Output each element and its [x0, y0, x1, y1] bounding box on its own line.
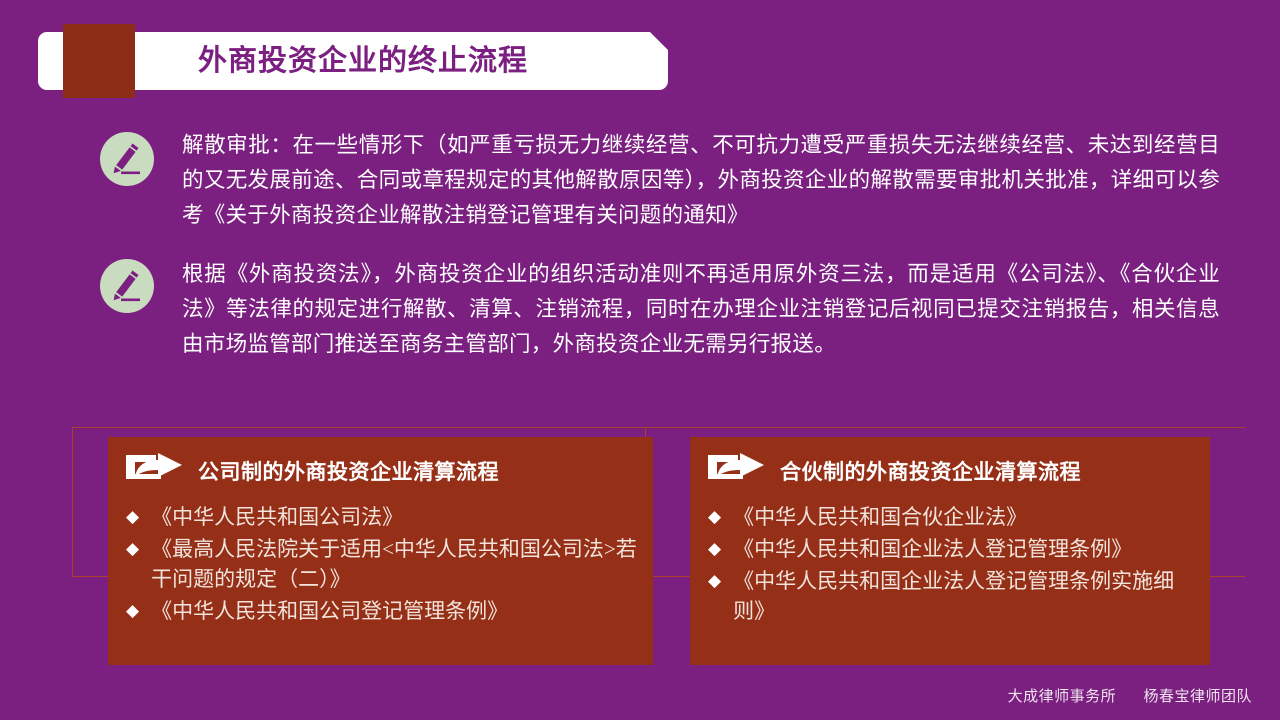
bullet-item: 解散审批：在一些情形下（如严重亏损无力继续经营、不可抗力遭受严重损失无法继续经营… — [100, 128, 1220, 233]
box-title: 合伙制的外商投资企业清算流程 — [780, 456, 1081, 486]
box-header: 公司制的外商投资企业清算流程 — [108, 437, 653, 488]
list-item-label: 《中华人民共和国企业法人登记管理条例》 — [733, 534, 1196, 564]
pencil-icon — [100, 132, 154, 186]
bullet-text: 根据《外商投资法》，外商投资企业的组织活动准则不再适用原外资三法，而是适用《公司… — [182, 255, 1220, 362]
bullet-item: 根据《外商投资法》，外商投资企业的组织活动准则不再适用原外资三法，而是适用《公司… — [100, 255, 1220, 362]
box-item-list: ◆ 《中华人民共和国公司法》 ◆ 《最高人民法院关于适用<中华人民共和国公司法>… — [108, 502, 653, 626]
list-item: ◆ 《最高人民法院关于适用<中华人民共和国公司法>若干问题的规定（二）》 — [126, 534, 639, 594]
list-item: ◆ 《中华人民共和国企业法人登记管理条例》 — [708, 534, 1196, 564]
list-item: ◆ 《中华人民共和国合伙企业法》 — [708, 502, 1196, 532]
diamond-bullet-icon: ◆ — [126, 534, 139, 564]
list-item-label: 《最高人民法院关于适用<中华人民共和国公司法>若干问题的规定（二）》 — [151, 534, 639, 594]
bullet-text: 解散审批：在一些情形下（如严重亏损无力继续经营、不可抗力遭受严重损失无法继续经营… — [182, 128, 1220, 233]
list-item: ◆ 《中华人民共和国公司登记管理条例》 — [126, 596, 639, 626]
diamond-bullet-icon: ◆ — [708, 566, 721, 596]
diamond-bullet-icon: ◆ — [708, 502, 721, 532]
footer-team: 杨春宝律师团队 — [1143, 688, 1252, 705]
curved-arrow-out-of-box-icon — [708, 453, 766, 488]
title-banner: 外商投资企业的终止流程 — [38, 32, 668, 90]
box-item-list: ◆ 《中华人民共和国合伙企业法》 ◆ 《中华人民共和国企业法人登记管理条例》 ◆… — [690, 502, 1210, 626]
diamond-bullet-icon: ◆ — [126, 596, 139, 626]
diamond-bullet-icon: ◆ — [126, 502, 139, 532]
clearance-box-partnership: 合伙制的外商投资企业清算流程 ◆ 《中华人民共和国合伙企业法》 ◆ 《中华人民共… — [690, 437, 1210, 665]
list-item: ◆ 《中华人民共和国公司法》 — [126, 502, 639, 532]
bullet-list: 解散审批：在一些情形下（如严重亏损无力继续经营、不可抗力遭受严重损失无法继续经营… — [100, 128, 1220, 384]
list-item-label: 《中华人民共和国公司法》 — [151, 502, 639, 532]
footer-firm: 大成律师事务所 — [1008, 688, 1117, 705]
footer: 大成律师事务所 杨春宝律师团队 — [1008, 685, 1252, 706]
list-item-label: 《中华人民共和国公司登记管理条例》 — [151, 596, 639, 626]
list-item-label: 《中华人民共和国企业法人登记管理条例实施细则》 — [733, 566, 1196, 626]
list-item-label: 《中华人民共和国合伙企业法》 — [733, 502, 1196, 532]
box-header: 合伙制的外商投资企业清算流程 — [690, 437, 1210, 488]
pencil-icon — [100, 259, 154, 313]
title-accent-block — [63, 24, 135, 98]
list-item: ◆ 《中华人民共和国企业法人登记管理条例实施细则》 — [708, 566, 1196, 626]
box-title: 公司制的外商投资企业清算流程 — [198, 456, 499, 486]
curved-arrow-out-of-box-icon — [126, 453, 184, 488]
page-title: 外商投资企业的终止流程 — [198, 32, 528, 90]
diamond-bullet-icon: ◆ — [708, 534, 721, 564]
clearance-box-company: 公司制的外商投资企业清算流程 ◆ 《中华人民共和国公司法》 ◆ 《最高人民法院关… — [108, 437, 653, 665]
slide-root: 外商投资企业的终止流程 解散审批：在一些情形下（如严重亏损无力继续经营、不可抗力… — [0, 0, 1280, 720]
